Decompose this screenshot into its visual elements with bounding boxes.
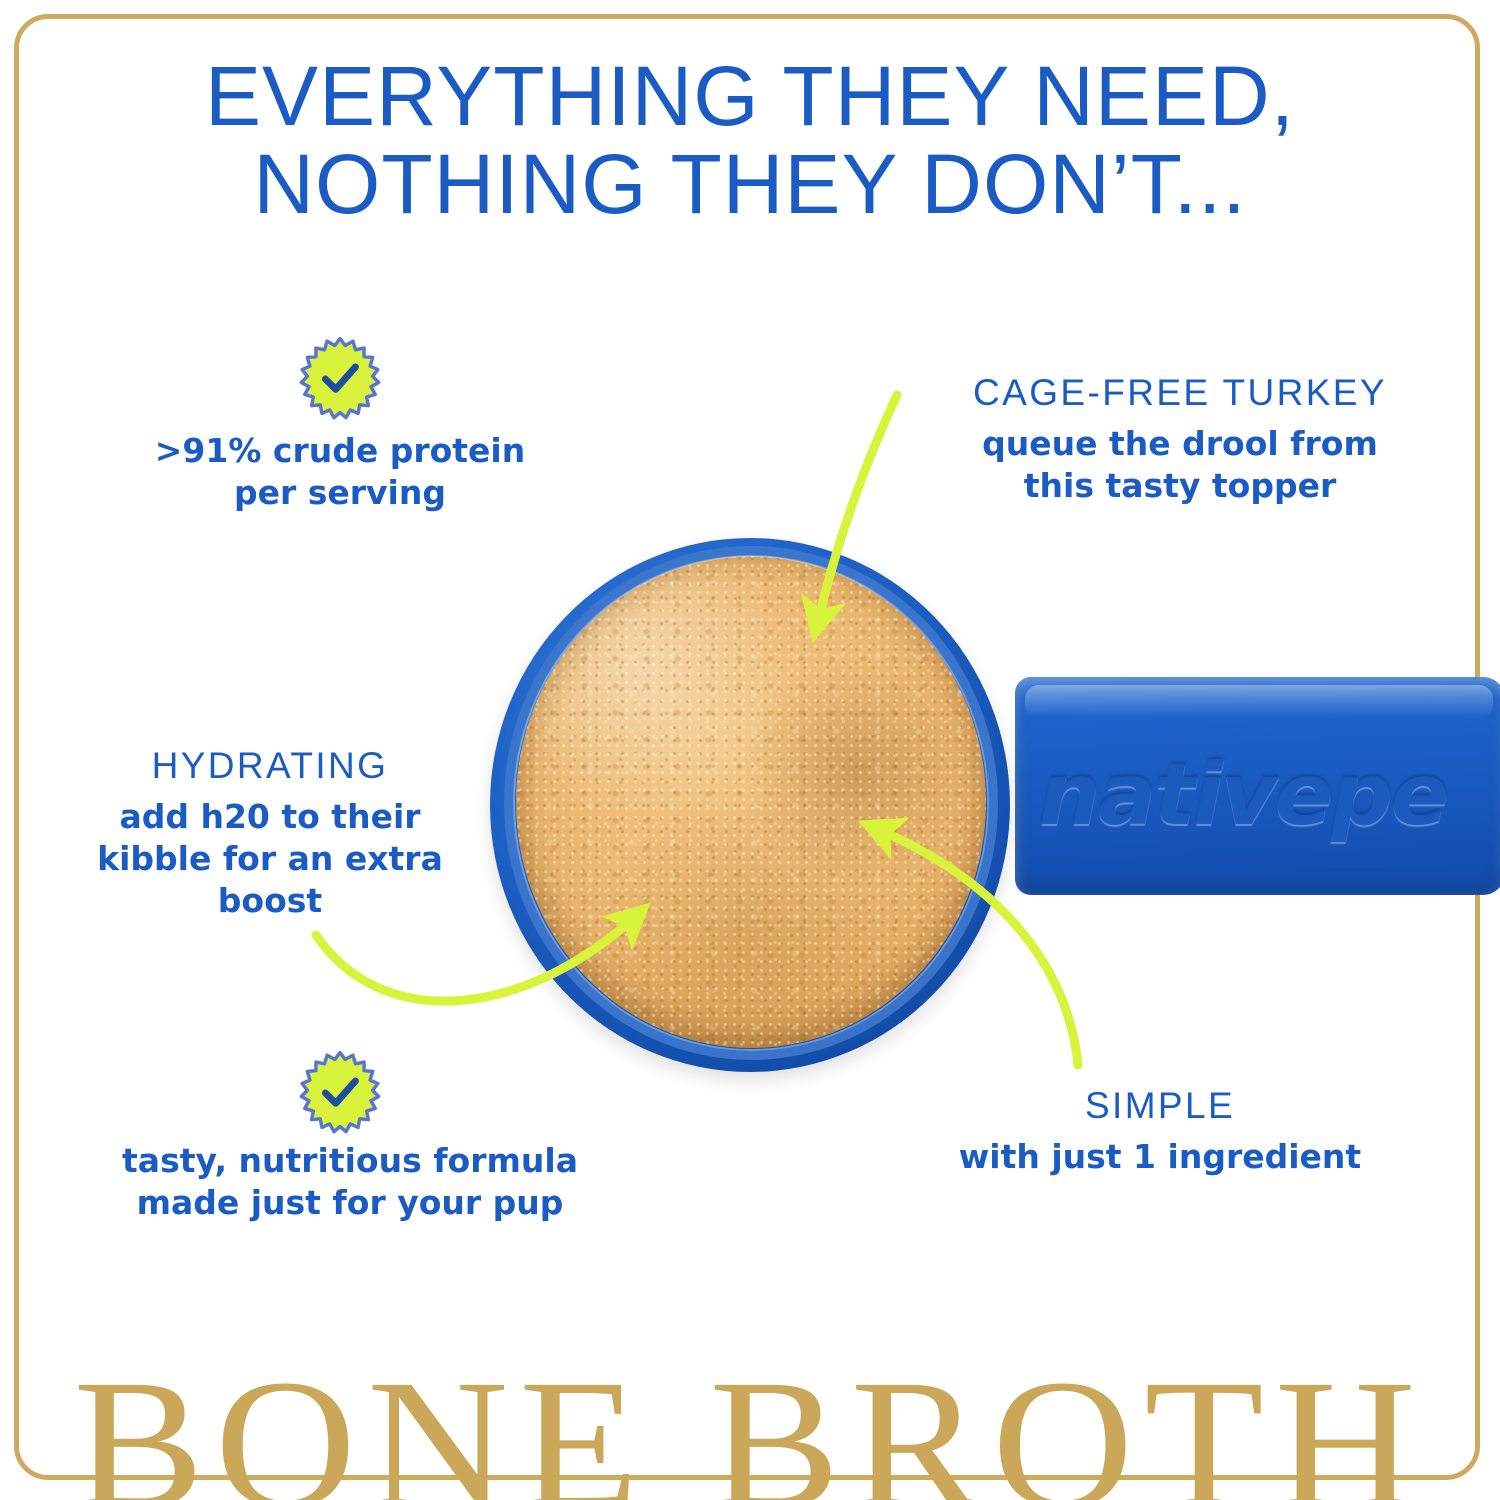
page-title: EVERYTHING THEY NEED, NOTHING THEY DON’T… [0,52,1500,228]
callout-simple-line-1: with just 1 ingredient [950,1136,1370,1178]
check-badge-icon [297,336,383,422]
callout-hydrating-line-2: kibble for an extra [60,838,480,880]
callout-turkey-line-2: this tasty topper [900,465,1460,507]
headline-line-1: EVERYTHING THEY NEED, [0,52,1500,140]
callout-protein-line-2: per serving [120,472,560,514]
callout-tasty-line-2: made just for your pup [90,1182,610,1224]
callout-protein-line-1: >91% crude protein [120,430,560,472]
brand-embossed-text: nativepe [1039,745,1491,845]
callout-hydrating-line-1: add h20 to their [60,796,480,838]
callout-turkey-line-1: queue the drool from [900,423,1460,465]
scoop-rim [504,546,998,1060]
callout-tasty-formula: tasty, nutritious formula made just for … [90,1140,610,1224]
infographic-canvas: EVERYTHING THEY NEED, NOTHING THEY DON’T… [0,0,1500,1500]
callout-cage-free-turkey: CAGE-FREE TURKEY queue the drool from th… [900,372,1460,507]
product-wordmark: BONE BROTH [0,1352,1500,1500]
product-scoop-image: nativepe [470,520,1500,1090]
callout-hydrating: HYDRATING add h20 to their kibble for an… [60,745,480,922]
callout-hydrating-title: HYDRATING [60,745,480,788]
callout-hydrating-line-3: boost [60,880,480,922]
scoop-handle: nativepe [1015,677,1500,895]
callout-protein: >91% crude protein per serving [120,430,560,514]
callout-turkey-title: CAGE-FREE TURKEY [900,372,1460,415]
headline-line-2: NOTHING THEY DON’T... [0,140,1500,228]
callout-simple-title: SIMPLE [950,1085,1370,1128]
callout-tasty-line-1: tasty, nutritious formula [90,1140,610,1182]
handle-highlight [1025,685,1493,719]
check-badge-icon [297,1050,383,1136]
callout-simple: SIMPLE with just 1 ingredient [950,1085,1370,1178]
